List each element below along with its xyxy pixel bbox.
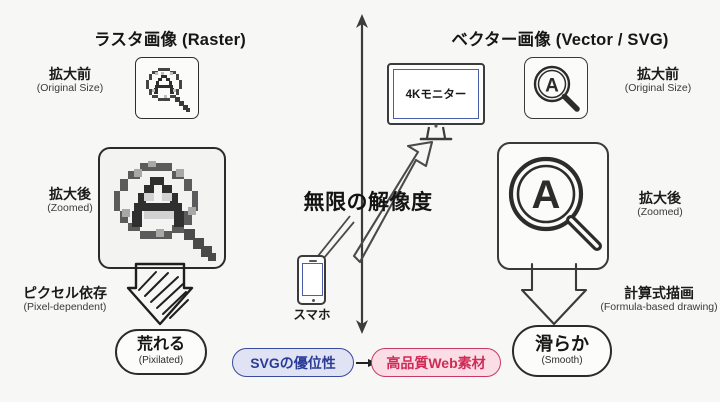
vector-result-capsule: 滑らか (Smooth) [512,325,612,377]
magnifier-a-icon-pixelated-large [100,149,224,267]
raster-down-arrow [126,262,202,328]
raster-result-en: (Pixilated) [139,354,183,367]
raster-property-label-en: (Pixel-dependent) [4,301,126,314]
vector-result-jp: 滑らか [535,335,589,354]
vector-down-arrow [520,262,592,328]
vector-zoomed-label: 拡大後 (Zoomed) [604,190,716,219]
raster-original-tile [135,57,199,119]
phone-speaker [309,260,317,262]
raster-result-jp: 荒れる [137,337,185,354]
vector-zoomed-tile: A [497,142,609,270]
diagram-canvas: ラスタ画像 (Raster) ベクター画像 (Vector / SVG) 拡大前… [0,0,720,402]
smartphone-icon [297,255,326,305]
footer-pill-svg-advantage[interactable]: SVGの優位性 [232,348,354,377]
magnifier-a-icon-vector-large: A [499,144,607,268]
vector-property-label-jp: 計算式描画 [598,285,720,301]
raster-result-capsule: 荒れる (Pixilated) [115,329,207,375]
monitor-icon: 4Kモニター [387,63,485,125]
vector-zoomed-label-en: (Zoomed) [604,206,716,219]
smartphone-label: スマホ [281,308,343,322]
phone-home-button [312,299,315,302]
footer-pill-high-quality-web-asset[interactable]: 高品質Web素材 [371,348,501,377]
monitor-screen-label: 4Kモニター [393,69,479,119]
title-raster: ラスタ画像 (Raster) [10,26,330,50]
raster-property-label: ピクセル依存 (Pixel-dependent) [4,285,126,314]
vector-zoomed-label-jp: 拡大後 [604,190,716,206]
raster-original-label: 拡大前 (Original Size) [10,66,130,95]
raster-property-label-jp: ピクセル依存 [4,285,126,301]
vector-original-label-jp: 拡大前 [600,66,716,82]
raster-original-label-jp: 拡大前 [10,66,130,82]
magnifier-a-icon-pixelated-small [136,58,198,118]
svg-text:A: A [545,76,559,97]
vector-original-label: 拡大前 (Original Size) [600,66,716,95]
magnifier-a-icon-vector-small: A [525,58,587,118]
title-vector: ベクター画像 (Vector / SVG) [400,26,720,50]
vector-property-label: 計算式描画 (Formula-based drawing) [598,285,720,314]
raster-original-label-en: (Original Size) [10,82,130,95]
vector-original-label-en: (Original Size) [600,82,716,95]
phone-screen [302,263,323,296]
vector-property-label-en: (Formula-based drawing) [598,301,720,314]
raster-zoomed-tile [98,147,226,269]
svg-text:A: A [532,173,561,217]
vector-result-en: (Smooth) [541,354,582,367]
vector-original-tile: A [524,57,588,119]
